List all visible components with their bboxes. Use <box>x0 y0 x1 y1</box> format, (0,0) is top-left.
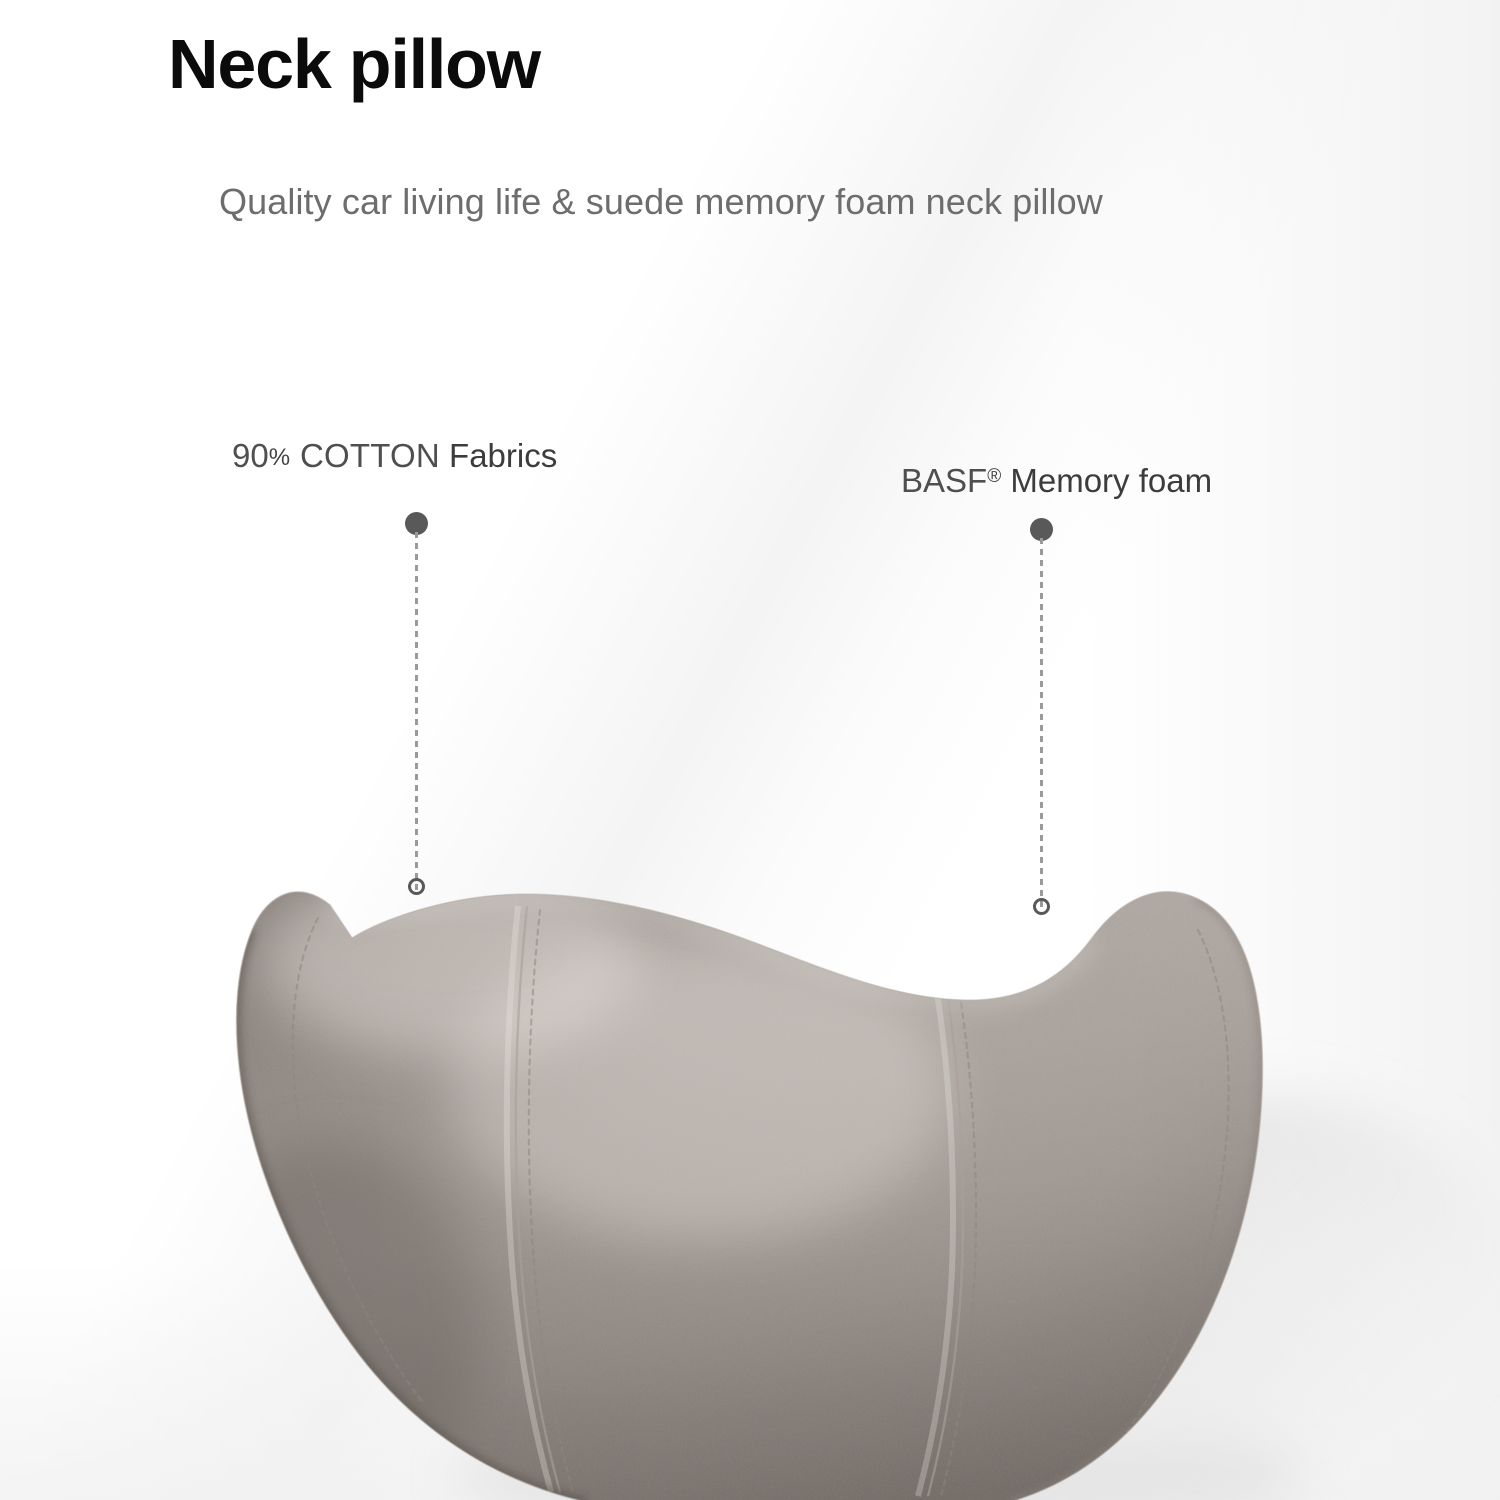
product-marketing-image: Neck pillow Quality car living life & su… <box>0 0 1500 1500</box>
pillow-body <box>180 860 1320 1500</box>
registered-trademark-icon: ® <box>987 466 1001 487</box>
callout-endpoint-ring-icon <box>1033 898 1050 915</box>
callout-cotton-suffix: Fabrics <box>449 437 557 474</box>
leader-dash-line <box>1040 538 1043 910</box>
callout-endpoint-ring-icon <box>408 878 425 895</box>
callout-cotton-material <box>291 437 300 474</box>
callout-cotton-value: 90 <box>232 437 269 474</box>
callout-label-basf: BASF® Memory foam <box>901 457 1212 501</box>
page-title: Neck pillow <box>168 22 540 106</box>
leader-dash-line <box>415 532 418 890</box>
callout-cotton-unit: % <box>269 444 291 471</box>
page-subtitle: Quality car living life & suede memory f… <box>219 178 1103 226</box>
callout-cotton-material-text: COTTON <box>300 437 440 474</box>
callout-basf-suffix: Memory foam <box>1010 462 1212 499</box>
callout-basf-brand: BASF <box>901 462 987 499</box>
callout-label-cotton: 90% COTTON Fabrics <box>232 436 557 478</box>
